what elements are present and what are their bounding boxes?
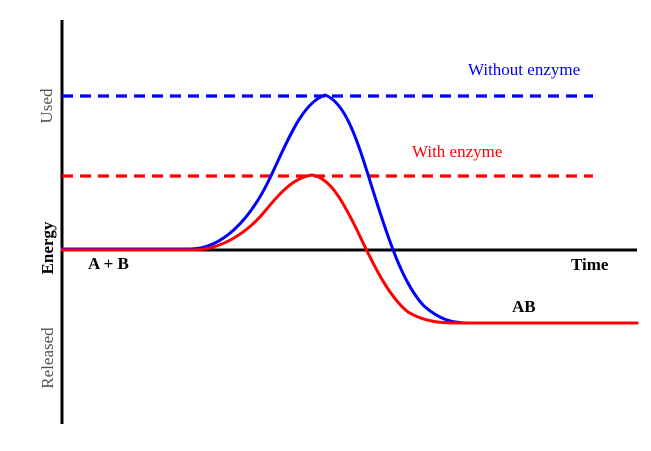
legend-label-without-enzyme: Without enzyme <box>468 60 580 80</box>
energy-diagram-figure: Used Energy Released Time A + B AB Witho… <box>0 0 651 451</box>
annotation-reactants: A + B <box>88 254 129 274</box>
annotation-product: AB <box>512 297 536 317</box>
y-tick-label-used: Used <box>37 71 57 141</box>
x-axis-title: Time <box>571 255 608 275</box>
y-tick-label-released: Released <box>38 310 58 406</box>
curve-without-enzyme <box>62 95 637 323</box>
legend-label-with-enzyme: With enzyme <box>412 142 502 162</box>
y-axis-title: Energy <box>38 206 58 290</box>
